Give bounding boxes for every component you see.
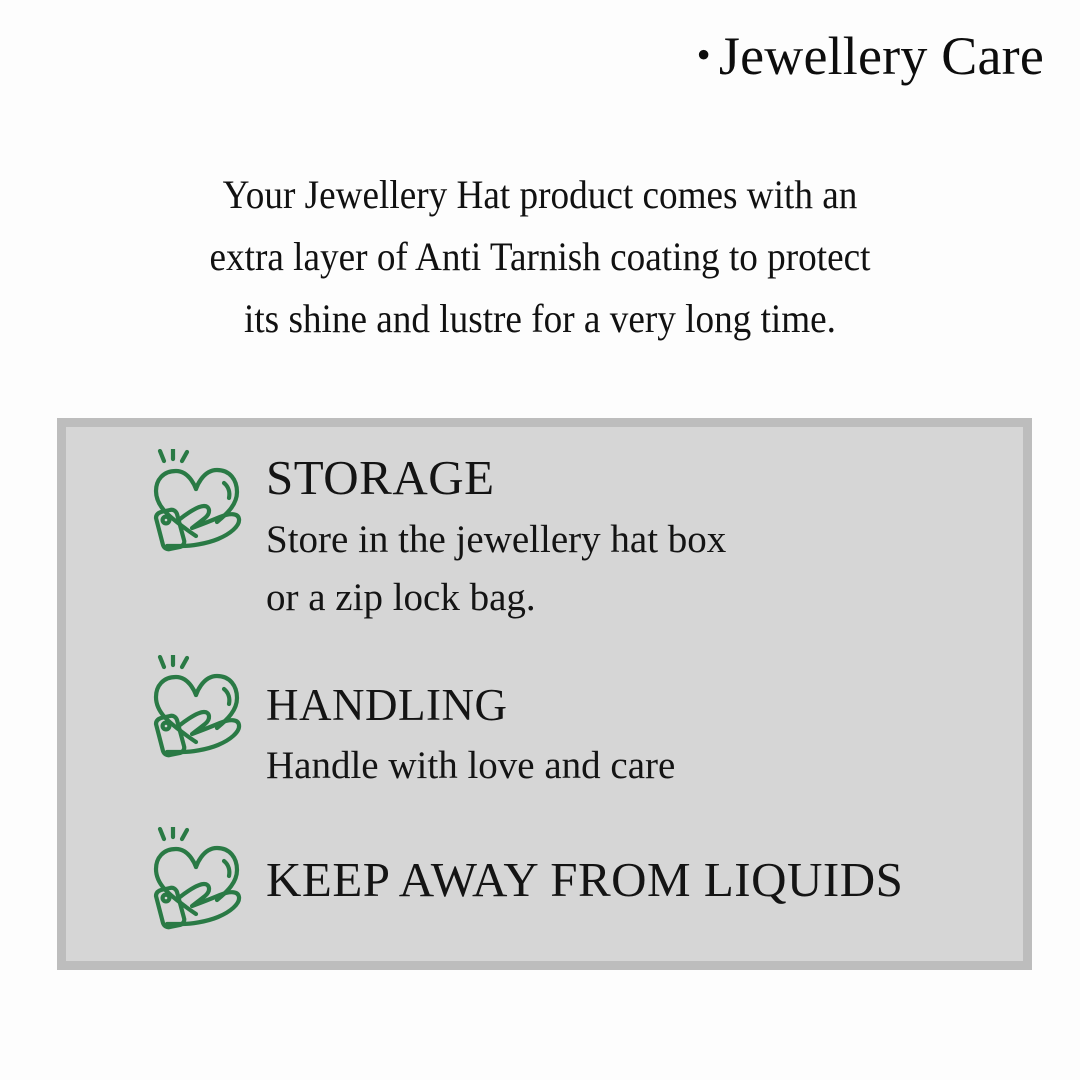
hand-holding-heart-icon <box>146 827 246 931</box>
care-heading: STORAGE <box>266 450 495 505</box>
care-body: Store in the jewellery hat box or a zip … <box>266 511 726 627</box>
care-body: Handle with love and care <box>266 737 675 795</box>
care-heading: HANDLING <box>266 680 507 730</box>
care-row-liquids: KEEP AWAY FROM LIQUIDS <box>146 827 903 931</box>
hand-holding-heart-icon <box>146 449 246 553</box>
bullet-icon: • <box>697 34 711 76</box>
hand-holding-heart-icon <box>146 655 246 759</box>
intro-line: Your Jewellery Hat product comes with an <box>94 164 987 226</box>
page-title: •Jewellery Care <box>697 28 1044 85</box>
care-rows: STORAGE Store in the jewellery hat box o… <box>66 427 1023 961</box>
care-body-line: Handle with love and care <box>266 737 675 795</box>
care-text-storage: STORAGE Store in the jewellery hat box o… <box>266 449 726 627</box>
care-heading: KEEP AWAY FROM LIQUIDS <box>266 852 903 907</box>
care-row-storage: STORAGE Store in the jewellery hat box o… <box>146 449 726 627</box>
care-text-handling: HANDLING Handle with love and care <box>266 655 675 795</box>
intro-line: its shine and lustre for a very long tim… <box>94 288 987 350</box>
page-title-text: Jewellery Care <box>719 26 1044 86</box>
care-row-handling: HANDLING Handle with love and care <box>146 655 675 795</box>
care-text-liquids: KEEP AWAY FROM LIQUIDS <box>266 827 903 907</box>
care-body-line: or a zip lock bag. <box>266 569 726 627</box>
intro-line: extra layer of Anti Tarnish coating to p… <box>94 226 987 288</box>
page-header: •Jewellery Care <box>0 28 1044 85</box>
care-body-line: Store in the jewellery hat box <box>266 511 726 569</box>
intro-paragraph: Your Jewellery Hat product comes with an… <box>94 164 987 350</box>
care-instructions-panel: STORAGE Store in the jewellery hat box o… <box>57 418 1032 970</box>
